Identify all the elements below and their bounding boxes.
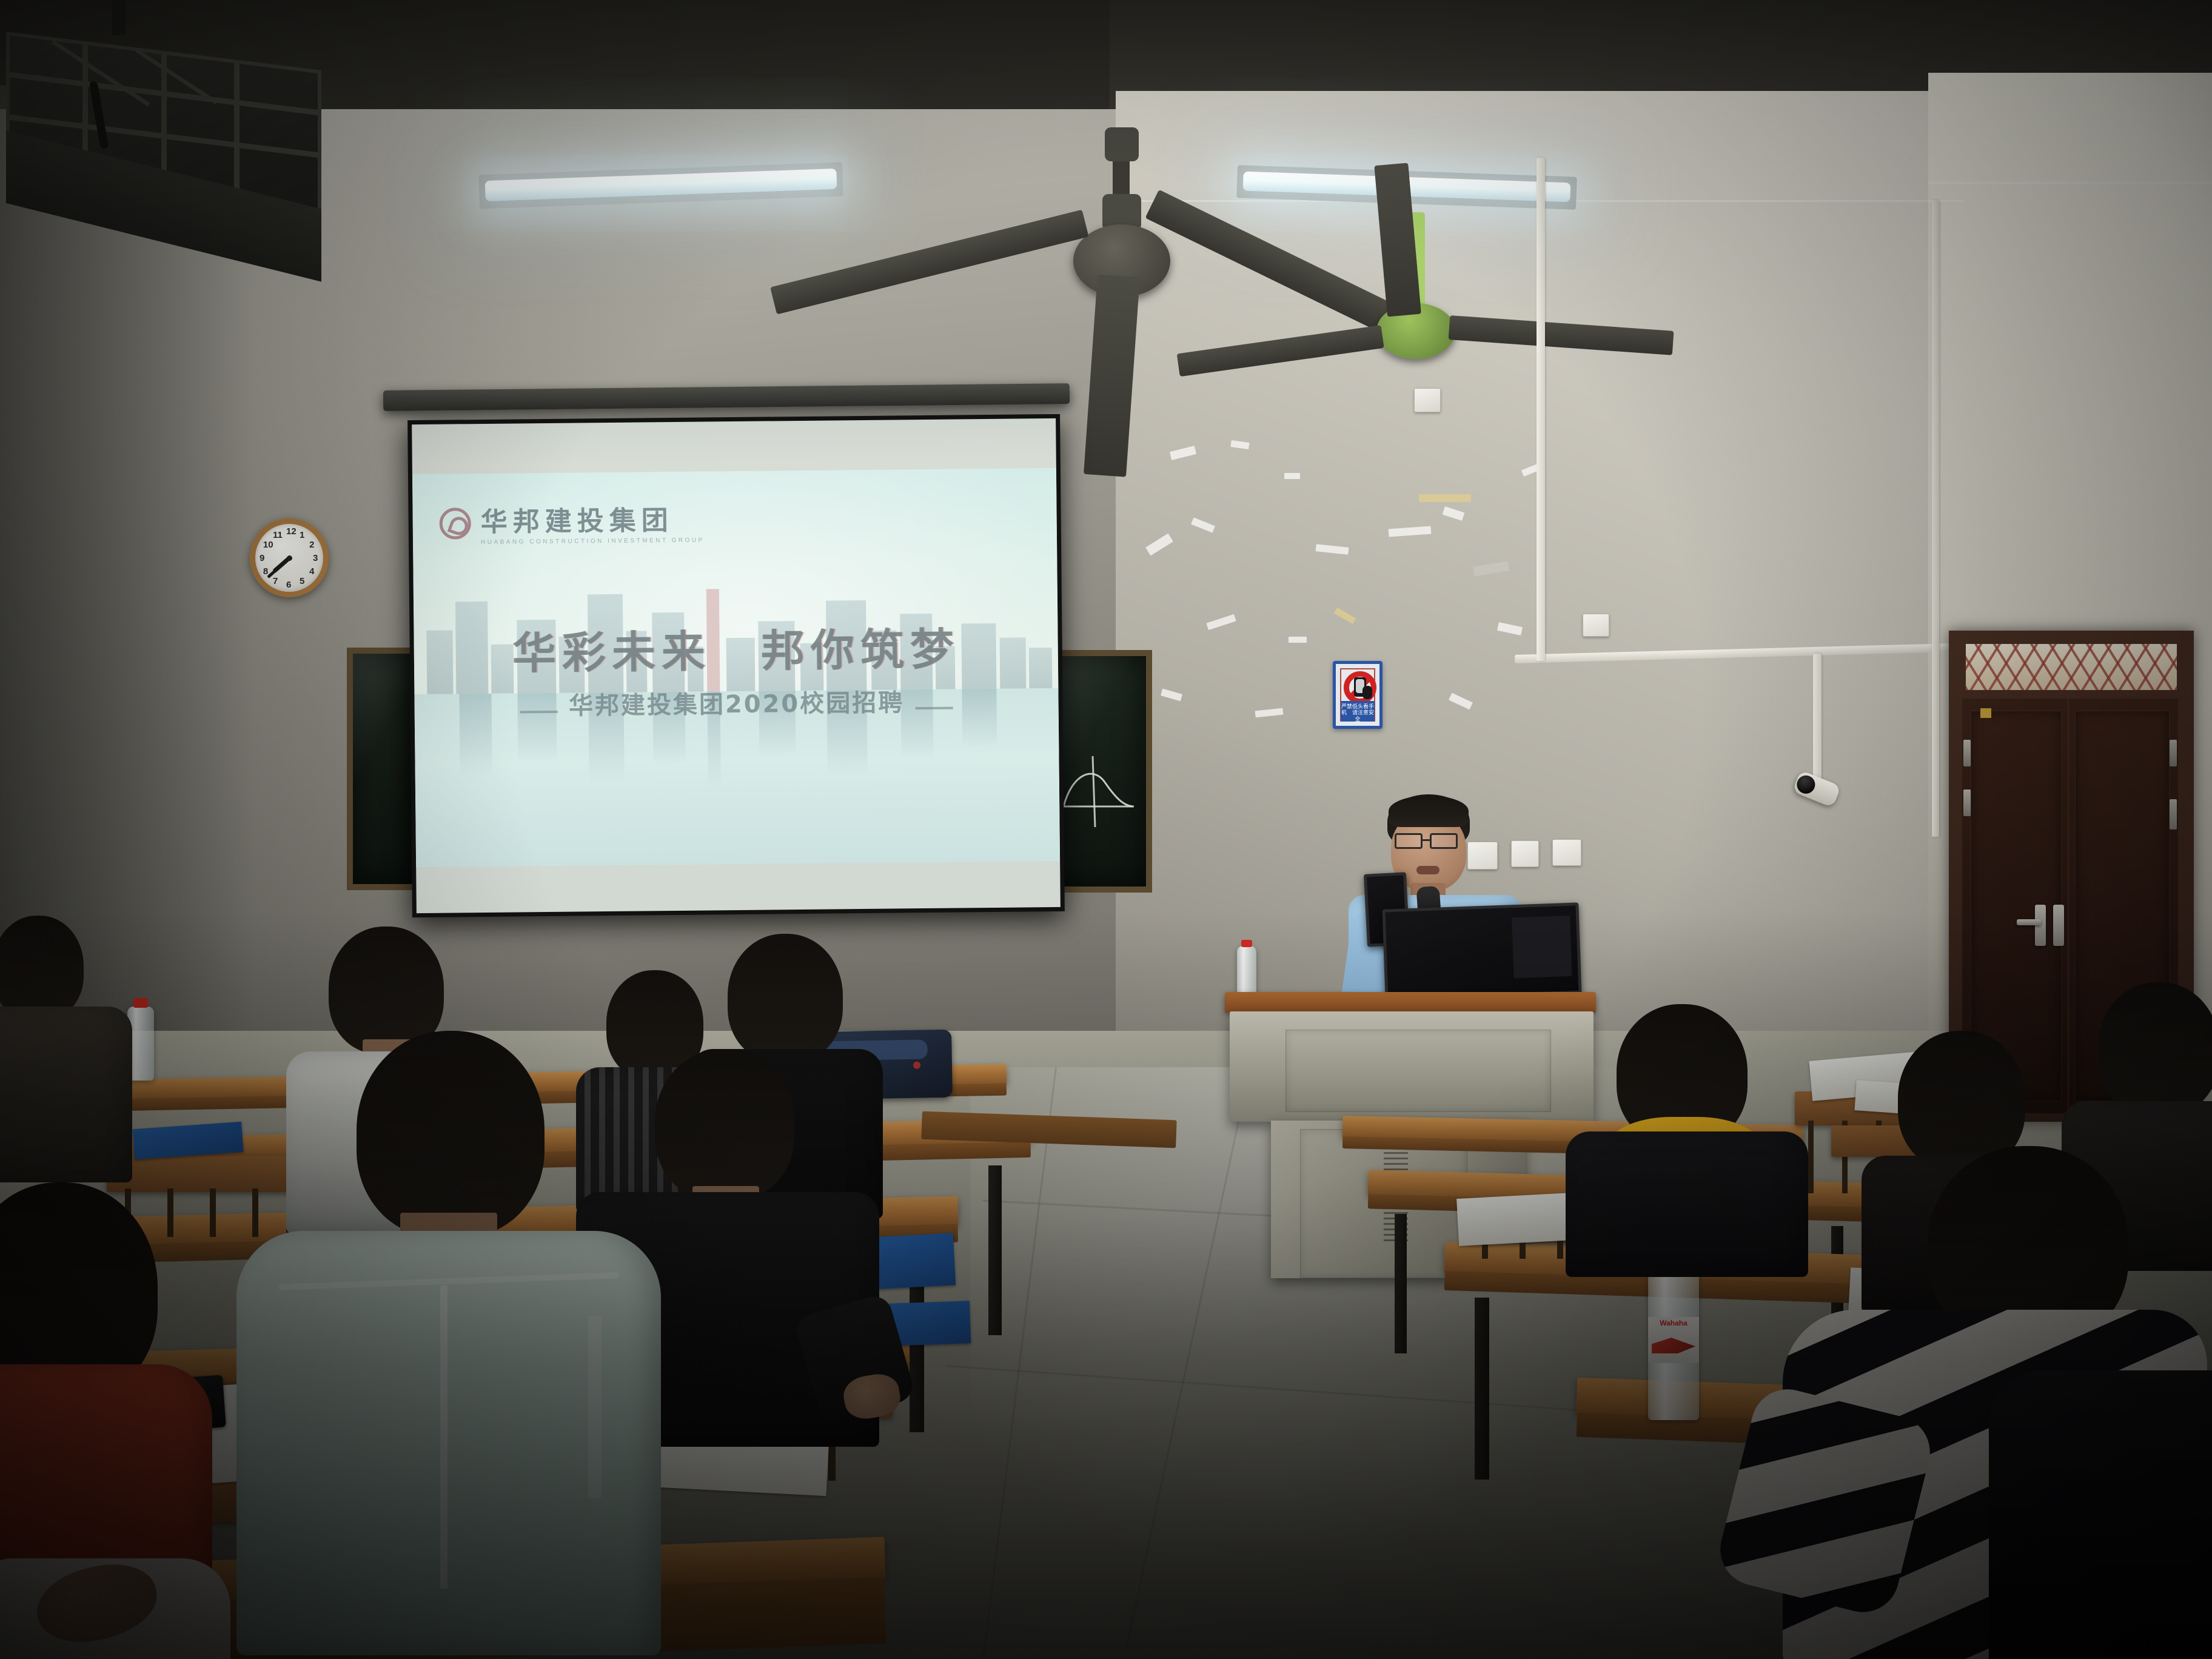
- screen-surface: 华邦建投集团 HUABANG CONSTRUCTION INVESTMENT G…: [412, 418, 1061, 913]
- wall-trim-line: [1928, 182, 2212, 184]
- ceiling-fan-left: [1116, 130, 1128, 142]
- clock-numeral: 10: [263, 540, 273, 550]
- door-hinge: [2170, 799, 2177, 829]
- desk-leg: [1395, 1214, 1407, 1353]
- clock-numeral: 3: [313, 553, 318, 563]
- desk-leg: [1475, 1298, 1489, 1480]
- student-mint-shirt-foreground: [224, 1031, 685, 1649]
- clock-numeral: 12: [286, 526, 297, 537]
- sign-caption: 严禁低头看手机 请注意安全: [1341, 701, 1375, 722]
- clock-numeral: 5: [300, 576, 304, 586]
- lectern-monitor-main[interactable]: [1382, 902, 1581, 1000]
- bottle-brand: Wahaha: [1648, 1317, 1699, 1327]
- student-far-left: [0, 916, 127, 1170]
- company-logo-mark: [439, 508, 471, 539]
- wall-clock: 121234567891011: [250, 518, 329, 597]
- glasses-icon: [1395, 833, 1423, 849]
- power-socket[interactable]: [1583, 614, 1609, 637]
- student-torso: [0, 1007, 132, 1182]
- subtitle-dash-left: [520, 711, 558, 714]
- lectern-front-panel: [1230, 1011, 1594, 1122]
- glasses-icon: [1430, 833, 1458, 849]
- blackboard-left-panel: [347, 648, 420, 890]
- clock-numeral: 6: [286, 580, 291, 590]
- projector-mount-rod: [112, 0, 126, 35]
- projection-screen: 华邦建投集团 HUABANG CONSTRUCTION INVESTMENT G…: [407, 414, 1065, 917]
- slide-logo: 华邦建投集团 HUABANG CONSTRUCTION INVESTMENT G…: [439, 498, 704, 546]
- hand-icon: [1362, 686, 1372, 699]
- subtitle-dash-right: [916, 706, 953, 709]
- camera-lens-icon: [1794, 773, 1818, 796]
- slide-subtitle-row: 华邦建投集团2020校园招聘: [414, 682, 1059, 723]
- sign-caption-cn: 严禁低头看手机 请注意安全: [1341, 701, 1375, 722]
- clock-numeral: 7: [273, 576, 278, 586]
- door-transom-window: [1966, 644, 2177, 690]
- door-lever[interactable]: [2017, 919, 2041, 925]
- clock-numeral: 8: [263, 566, 268, 577]
- student-silhouette-bottom-right: [1989, 1370, 2212, 1659]
- door-hinge: [2170, 740, 2177, 766]
- clock-numeral: 2: [309, 540, 314, 550]
- door-handle-left[interactable]: [2035, 905, 2046, 946]
- door-handle-right[interactable]: [2053, 905, 2064, 946]
- student-head: [2098, 982, 2212, 1116]
- clock-numeral: 9: [260, 553, 264, 563]
- student-head: [0, 916, 84, 1020]
- classroom-scene: 121234567891011: [0, 0, 2212, 1659]
- ceiling-projector: [6, 0, 333, 218]
- bottle-label: Wahaha: [1648, 1317, 1699, 1363]
- power-socket[interactable]: [1414, 388, 1441, 412]
- door-hinge: [1963, 789, 1971, 816]
- slide-logo-chinese: 华邦建投集团: [480, 498, 704, 539]
- lectern-worktop: [1225, 992, 1596, 1013]
- projected-slide: 华邦建投集团 HUABANG CONSTRUCTION INVESTMENT G…: [412, 468, 1060, 867]
- no-phone-sign: 严禁低头看手机 请注意安全: [1333, 661, 1382, 729]
- wall-conduit-drop: [1813, 654, 1822, 787]
- clock-numeral: 1: [300, 530, 304, 540]
- slide-subtitle: 华邦建投集团2020校园招聘: [560, 689, 913, 720]
- clock-numeral: 11: [273, 530, 283, 540]
- desk-leg: [988, 1165, 1002, 1335]
- door-hinge: [1963, 740, 1971, 766]
- water-bottle-lectern[interactable]: [1237, 946, 1256, 996]
- slide-title-text: 华彩未来 邦你筑梦: [414, 612, 1058, 682]
- clock-numeral: 4: [309, 566, 314, 577]
- presenter-hair-top: [1389, 796, 1469, 827]
- lattice-grille-icon: [1966, 644, 2177, 690]
- student-head: [728, 934, 843, 1062]
- ceiling-fan-right: [1413, 212, 1425, 224]
- wall-conduit-vertical: [1537, 158, 1545, 661]
- wall-conduit-corner: [1932, 200, 1939, 837]
- student-head: [357, 1031, 545, 1237]
